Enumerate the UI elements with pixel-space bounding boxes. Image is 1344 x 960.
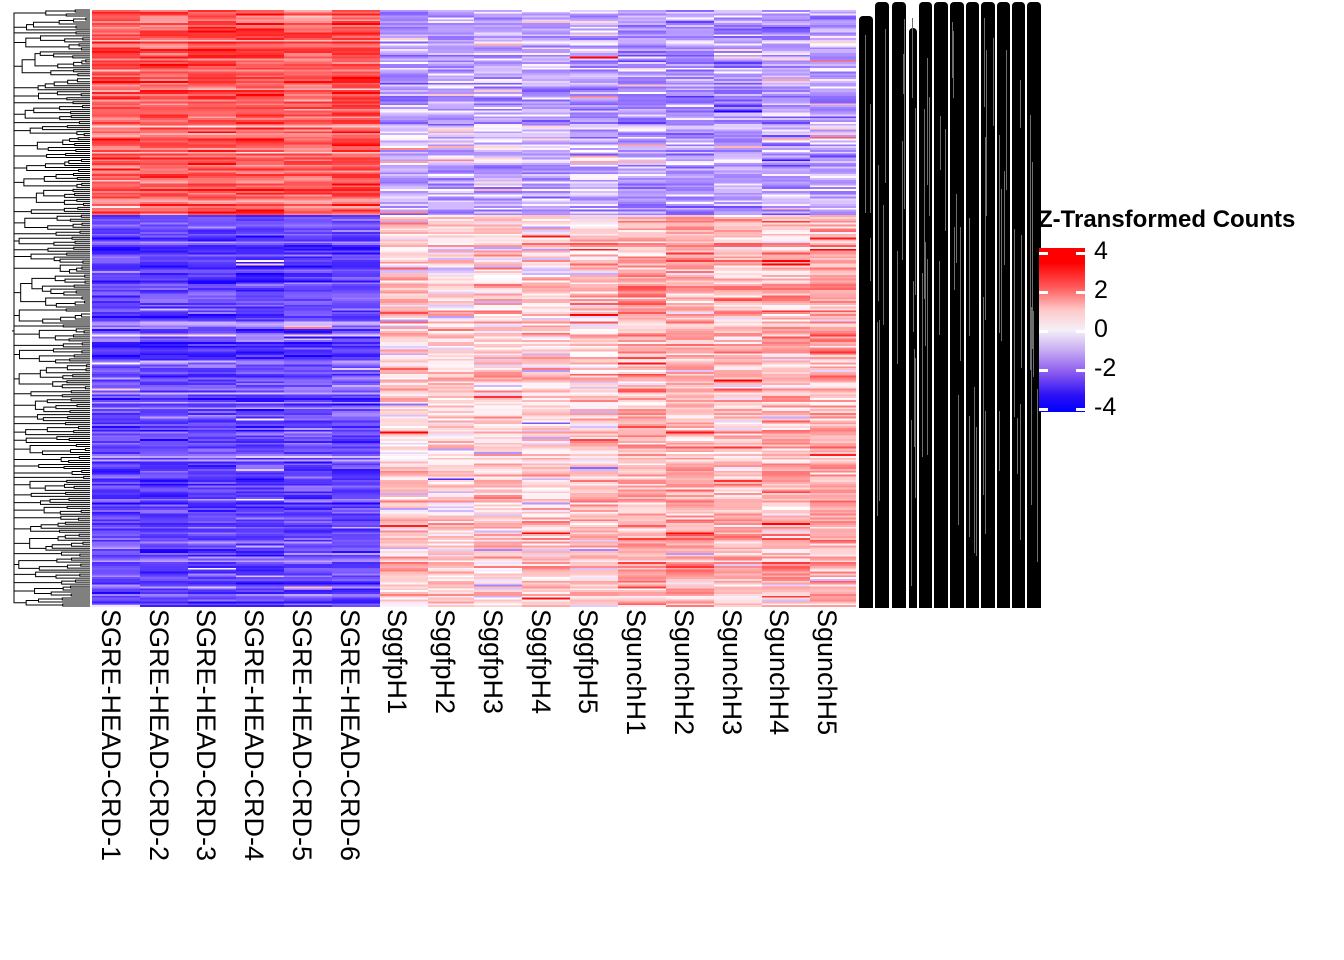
- row-label-speck: [958, 395, 959, 525]
- row-label-block: [966, 8, 979, 608]
- row-label-speck: [915, 358, 916, 498]
- row-label-speck: [952, 22, 953, 78]
- column-label-7: SggfpH1: [381, 609, 412, 714]
- column-label-3: SGRE-HEAD-CRD-3: [190, 609, 221, 861]
- column-label-6: SGRE-HEAD-CRD-6: [334, 609, 365, 861]
- row-label-speck: [924, 109, 925, 299]
- column-label-1: SGRE-HEAD-CRD-1: [95, 609, 126, 861]
- heatmap-canvas: [92, 10, 856, 607]
- legend-tick-label-5: -4: [1094, 395, 1116, 420]
- column-label-group: SGRE-HEAD-CRD-1SGRE-HEAD-CRD-2SGRE-HEAD-…: [92, 609, 856, 949]
- row-label-speck: [1032, 162, 1033, 349]
- row-label-speck: [870, 238, 871, 281]
- row-label-speck: [953, 31, 954, 98]
- row-label-speck: [927, 259, 928, 455]
- row-dendrogram-svg: [6, 8, 90, 608]
- column-label-5: SGRE-HEAD-CRD-5: [286, 609, 317, 861]
- row-label-speck: [929, 97, 930, 216]
- row-label-speck: [865, 35, 866, 213]
- row-label-speck: [879, 320, 880, 501]
- column-label-11: SggfpH5: [572, 609, 603, 714]
- row-label-speck: [1020, 80, 1021, 128]
- heatmap-matrix: [92, 10, 856, 607]
- row-label-speck: [1017, 418, 1018, 474]
- column-label-4: SGRE-HEAD-CRD-4: [238, 609, 269, 861]
- row-label-speck: [925, 242, 926, 346]
- row-label-speck: [940, 116, 941, 170]
- row-label-speck: [999, 135, 1000, 333]
- row-label-fragment: 8: [1003, 541, 1010, 556]
- row-label-block: [950, 8, 964, 608]
- column-label-13: SgunchH2: [668, 609, 699, 735]
- row-label-speck: [904, 19, 905, 209]
- row-label-speck: [984, 18, 985, 107]
- row-label-speck: [897, 251, 898, 364]
- row-label-speck: [883, 205, 884, 325]
- row-label-speck: [999, 411, 1000, 471]
- row-label-speck: [985, 411, 986, 534]
- row-label-speck: [974, 387, 975, 553]
- row-dendrogram: [6, 8, 90, 608]
- column-label-14: SgunchH3: [716, 609, 747, 735]
- row-label-speck: [1031, 307, 1032, 505]
- row-label-group: 38: [857, 8, 1007, 612]
- row-label-speck: [922, 273, 923, 457]
- legend-tick-label-2: 2: [1094, 278, 1108, 303]
- legend-tick-left: [1039, 369, 1048, 372]
- row-label-speck: [993, 38, 994, 126]
- color-legend: Z-Transformed Counts 420-2-4: [1036, 206, 1336, 421]
- legend-tick-left: [1039, 408, 1048, 411]
- row-label-speck: [939, 261, 940, 335]
- row-label-speck: [902, 141, 903, 260]
- row-label-speck: [915, 108, 916, 295]
- row-label-speck: [1006, 50, 1007, 190]
- legend-tick-label-1: 4: [1094, 239, 1108, 264]
- column-label-16: SgunchH5: [811, 609, 842, 735]
- column-label-2: SGRE-HEAD-CRD-2: [143, 609, 174, 861]
- row-label-speck: [885, 29, 886, 183]
- row-label-speck: [913, 281, 914, 332]
- row-label-speck: [911, 420, 912, 586]
- row-label-speck: [1033, 311, 1034, 377]
- dendrogram-branches: [12, 10, 90, 606]
- row-label-speck: [983, 297, 984, 495]
- column-label-8: SggfpH2: [429, 609, 460, 714]
- legend-tick-right: [1076, 369, 1085, 372]
- row-label-speck: [945, 129, 946, 231]
- row-label-speck: [870, 104, 871, 180]
- row-label-speck: [877, 322, 878, 516]
- row-label-speck: [954, 227, 955, 290]
- column-label-9: SggfpH3: [477, 609, 508, 714]
- row-label-speck: [1020, 404, 1021, 540]
- legend-tick-label-3: 0: [1094, 317, 1108, 342]
- row-label-speck: [986, 50, 987, 216]
- row-label-speck: [976, 427, 977, 556]
- column-label-12: SgunchH1: [620, 609, 651, 735]
- row-label-speck: [969, 218, 970, 336]
- legend-tick-right: [1076, 408, 1085, 411]
- column-label-10: SggfpH4: [525, 609, 556, 714]
- legend-tick-right: [1076, 291, 1085, 294]
- legend-tick-label-4: -2: [1094, 356, 1116, 381]
- legend-tick-right: [1076, 330, 1085, 333]
- row-label-speck: [960, 227, 961, 361]
- row-label-speck: [912, 18, 913, 98]
- legend-tick-right: [1076, 252, 1085, 255]
- row-label-speck: [1014, 229, 1015, 417]
- row-label-block: [934, 8, 948, 608]
- row-label-speck: [903, 54, 904, 94]
- heatmap-figure: SGRE-HEAD-CRD-1SGRE-HEAD-CRD-2SGRE-HEAD-…: [0, 0, 1344, 960]
- legend-title: Z-Transformed Counts: [1038, 206, 1295, 234]
- row-label-speck: [927, 58, 928, 185]
- row-label-speck: [1001, 230, 1002, 341]
- row-label-speck: [969, 416, 970, 537]
- legend-tick-left: [1039, 252, 1048, 255]
- legend-tick-left: [1039, 330, 1048, 333]
- row-label-block: [875, 8, 889, 608]
- row-label-speck: [1021, 235, 1022, 339]
- column-label-15: SgunchH4: [763, 609, 794, 735]
- row-label-fragment: 3: [1003, 360, 1010, 375]
- legend-tick-left: [1039, 291, 1048, 294]
- row-label-speck: [956, 194, 957, 263]
- row-label-speck: [1004, 171, 1005, 265]
- row-label-speck: [878, 165, 879, 301]
